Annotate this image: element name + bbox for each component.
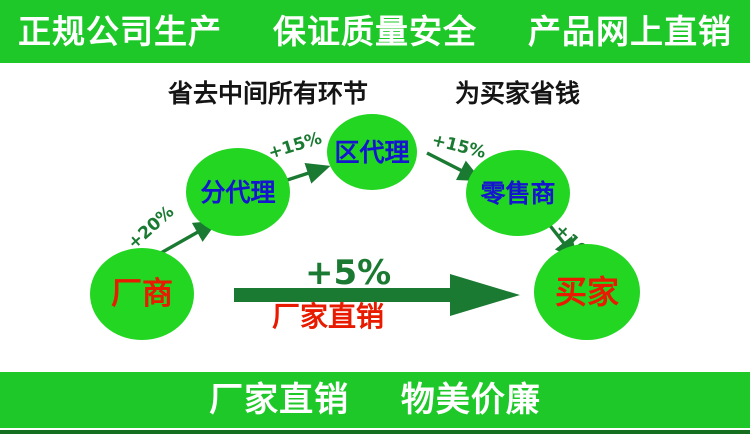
node-sub-agent[interactable]: 分代理: [186, 148, 290, 236]
node-buyer[interactable]: 买家: [534, 244, 640, 340]
direct-channel-label: 厂家直销: [272, 303, 384, 331]
node-district-agent-label: 区代理: [334, 140, 409, 165]
promo-image: 正规公司生产 保证质量安全 产品网上直销 省去中间所有环节 为买家省钱: [0, 0, 750, 440]
bottom-banner-item-2: 物美价廉: [401, 380, 541, 420]
subtitle-left: 省去中间所有环节: [168, 81, 368, 106]
node-retailer[interactable]: 零售商: [466, 150, 570, 236]
bottom-banner: 厂家直销 物美价廉: [0, 372, 750, 428]
top-banner-item-1: 正规公司生产: [18, 12, 222, 51]
node-manufacturer[interactable]: 厂商: [90, 248, 194, 340]
node-retailer-label: 零售商: [480, 181, 555, 206]
node-buyer-label: 买家: [555, 276, 619, 308]
node-manufacturer-label: 厂商: [111, 279, 173, 310]
bottom-banner-text: 厂家直销 物美价廉: [209, 383, 541, 417]
top-banner-text: 正规公司生产 保证质量安全 产品网上直销: [18, 15, 732, 48]
markup-label-15-a: +15%: [267, 130, 325, 162]
bottom-banner-item-1: 厂家直销: [209, 380, 349, 420]
top-banner-item-2: 保证质量安全: [273, 12, 477, 51]
bottom-rule: [0, 430, 750, 434]
subtitle-right: 为买家省钱: [455, 81, 580, 106]
node-district-agent[interactable]: 区代理: [327, 114, 417, 190]
subtitle-row: 省去中间所有环节 为买家省钱: [0, 76, 750, 110]
top-banner-item-3: 产品网上直销: [528, 12, 732, 51]
node-sub-agent-label: 分代理: [200, 180, 275, 205]
top-banner: 正规公司生产 保证质量安全 产品网上直销: [0, 0, 750, 63]
direct-channel-percent: +5%: [305, 256, 391, 290]
